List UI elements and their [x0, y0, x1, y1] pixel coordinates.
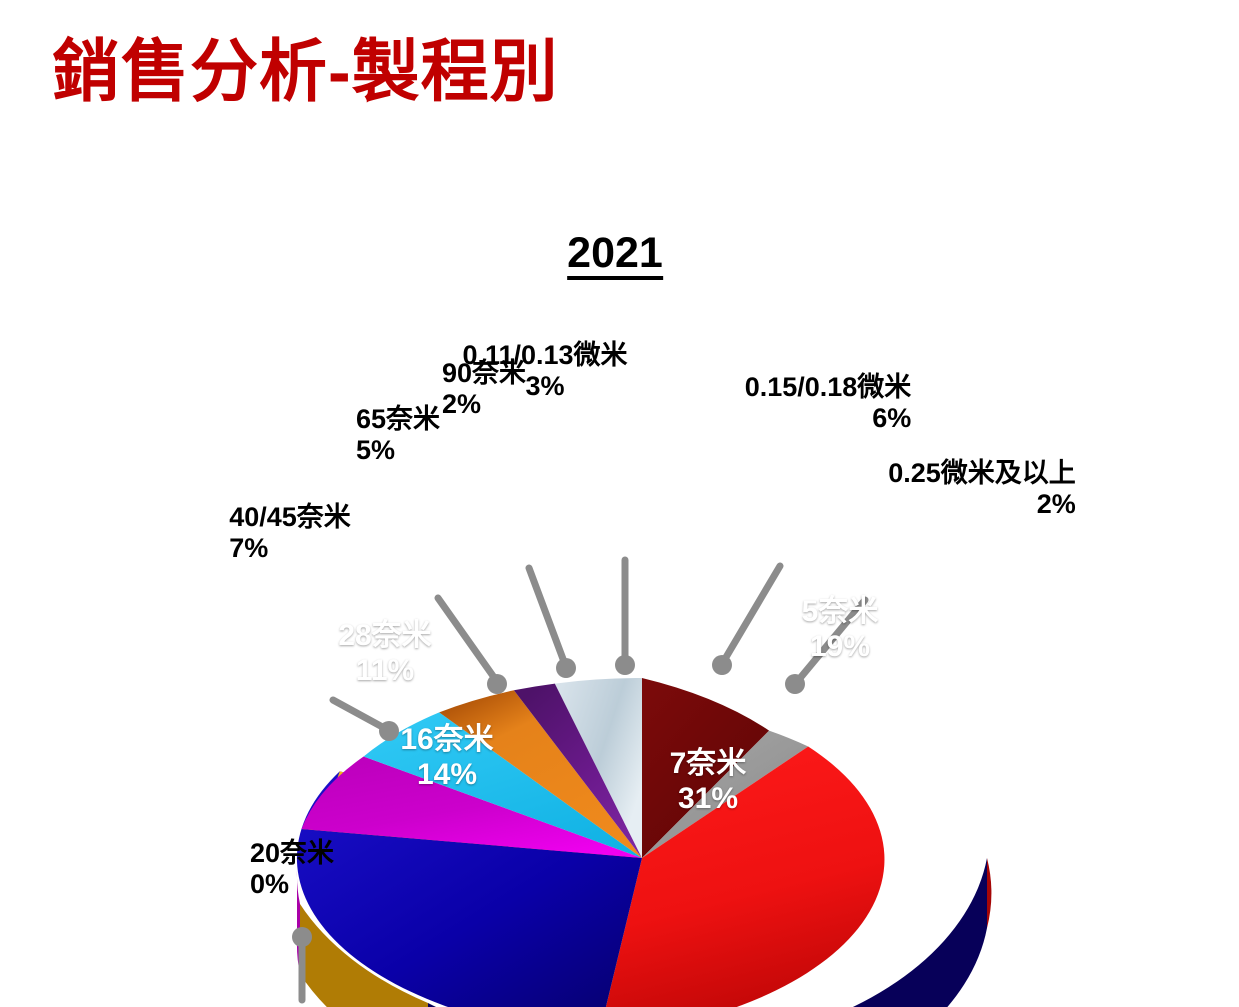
label-5nm-pct: 19%: [802, 629, 879, 664]
leader-65nm: [438, 598, 498, 683]
label-16nm-name: 16奈米: [400, 723, 493, 756]
label-0-25um-and-above-pct: 2%: [888, 489, 1076, 520]
label-90nm-name: 90奈米: [442, 358, 526, 388]
leader-dot-90nm: [556, 658, 576, 678]
pie-chart-graphic: [0, 170, 1239, 1007]
label-20nm-pct: 0%: [250, 869, 334, 900]
label-16nm-pct: 14%: [400, 757, 493, 792]
label-0-15-0-18um: 0.15/0.18微米 6%: [745, 372, 912, 434]
label-0-15-0-18um-name: 0.15/0.18微米: [745, 372, 912, 402]
leader-015-018um: [722, 566, 780, 664]
label-16nm: 16奈米 14%: [400, 722, 493, 793]
label-90nm: 90奈米 2%: [442, 358, 526, 420]
leader-dot-4045nm: [379, 721, 399, 741]
label-5nm: 5奈米 19%: [802, 594, 879, 665]
leader-dot-015-018um: [712, 655, 732, 675]
label-28nm: 28奈米 11%: [338, 618, 431, 689]
label-7nm-name: 7奈米: [670, 747, 747, 780]
label-20nm: 20奈米 0%: [250, 838, 334, 900]
leader-dot-025um: [785, 674, 805, 694]
leader-90nm: [529, 568, 566, 667]
label-7nm: 7奈米 31%: [670, 746, 747, 817]
label-7nm-pct: 31%: [670, 781, 747, 816]
leader-dot-011-013um: [615, 655, 635, 675]
label-65nm-pct: 5%: [356, 435, 440, 466]
label-28nm-pct: 11%: [338, 653, 431, 688]
label-40-45nm: 40/45奈米 7%: [229, 502, 351, 564]
label-90nm-pct: 2%: [442, 389, 526, 420]
label-40-45nm-name: 40/45奈米: [229, 502, 351, 532]
label-65nm-name: 65奈米: [356, 404, 440, 434]
label-20nm-name: 20奈米: [250, 838, 334, 868]
label-65nm: 65奈米 5%: [356, 404, 440, 466]
leader-dot-65nm: [487, 674, 507, 694]
label-0-25um-and-above: 0.25微米及以上 2%: [888, 458, 1076, 520]
label-40-45nm-pct: 7%: [229, 533, 351, 564]
leader-4045nm: [333, 700, 388, 730]
label-5nm-name: 5奈米: [802, 595, 879, 628]
page-title: 銷售分析-製程別: [52, 38, 559, 106]
pie-chart: 2021: [0, 170, 1239, 1007]
leader-dot-20nm: [292, 927, 312, 947]
label-28nm-name: 28奈米: [338, 619, 431, 652]
label-0-25um-and-above-name: 0.25微米及以上: [888, 458, 1076, 488]
label-0-15-0-18um-pct: 6%: [745, 403, 912, 434]
